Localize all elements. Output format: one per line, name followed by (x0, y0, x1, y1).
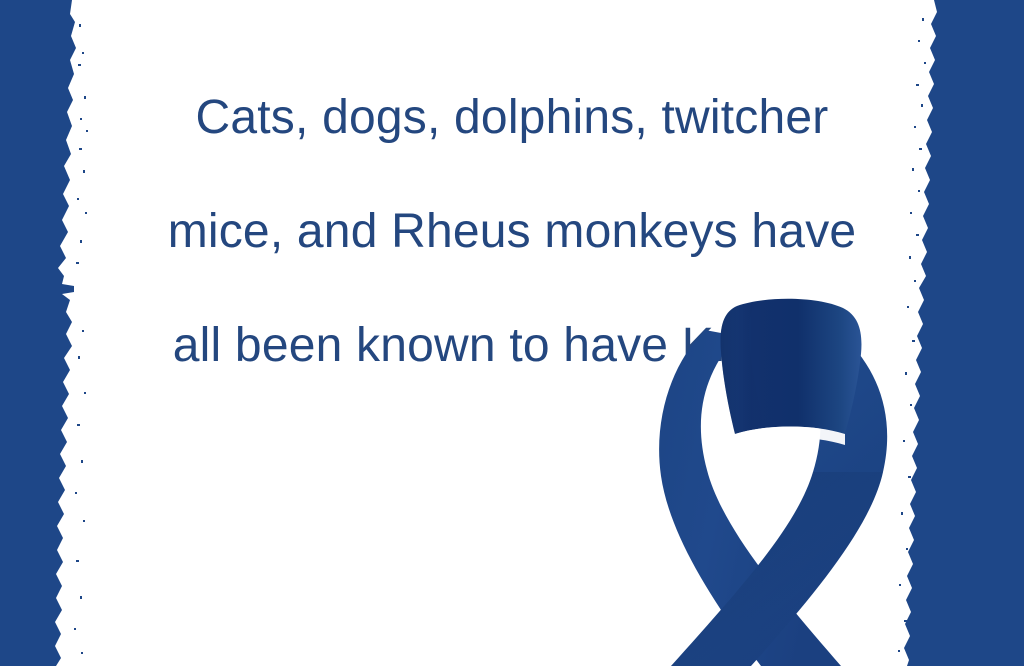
headline-line-1: Cats, dogs, dolphins, twitcher (120, 89, 904, 146)
poster-canvas: Cats, dogs, dolphins, twitcher mice, and… (0, 0, 1024, 666)
left-band-shape (0, 0, 88, 666)
ribbon-shape (659, 299, 887, 666)
headline-line-2: mice, and Rheus monkeys have (120, 203, 904, 260)
left-band-speckles (74, 24, 88, 654)
awareness-ribbon (645, 292, 935, 666)
